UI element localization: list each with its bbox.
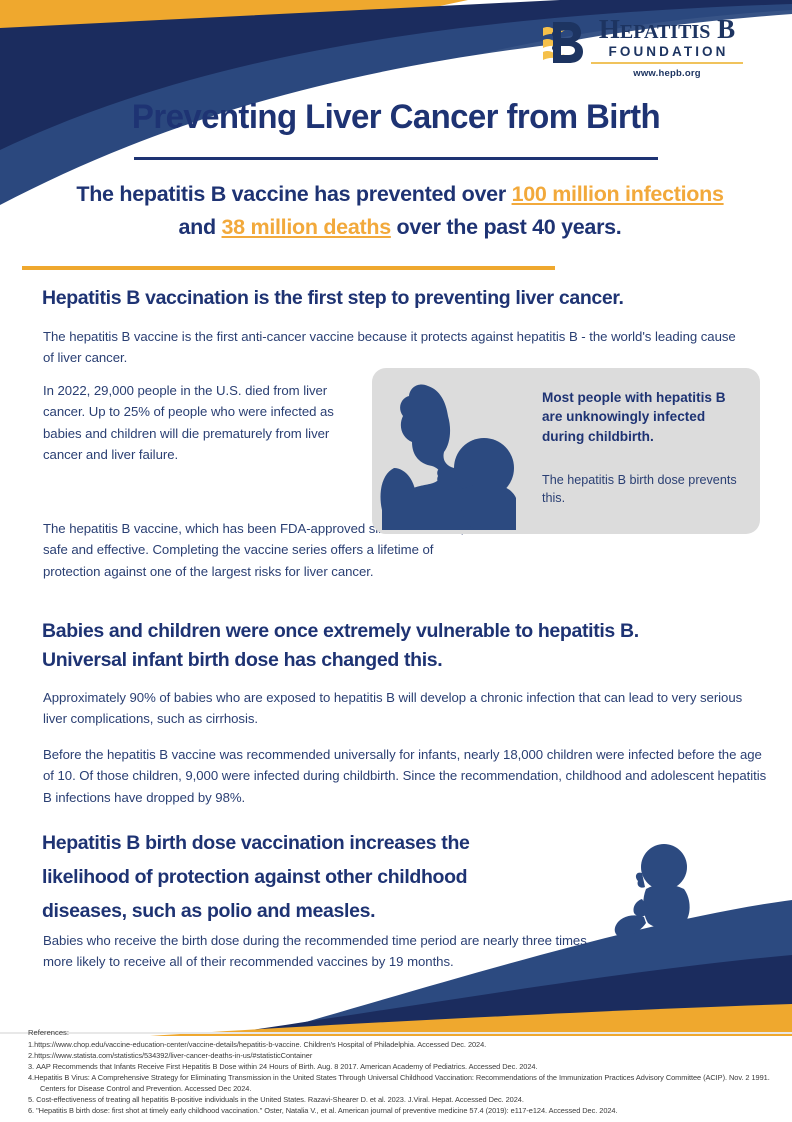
- section-3-heading-line2: likelihood of protection against other c…: [42, 862, 642, 892]
- reference-item: 6. "Hepatitis B birth dose: first shot a…: [28, 1105, 773, 1116]
- callout-title: Most people with hepatitis B are unknowi…: [542, 388, 742, 446]
- section-1-heading: Hepatitis B vaccination is the first ste…: [42, 283, 762, 313]
- callout-card: Most people with hepatitis B are unknowi…: [372, 368, 760, 534]
- references-block: References: 1.https://www.chop.edu/vacci…: [28, 1028, 773, 1116]
- hepb-foundation-logo: HEPATITIS B FOUNDATION www.hepb.org: [539, 16, 754, 84]
- logo-underline: [591, 62, 743, 64]
- logo-url: www.hepb.org: [633, 68, 701, 79]
- logo-subtitle: FOUNDATION: [606, 43, 729, 61]
- banner-text-part3: over the past 40 years.: [391, 215, 622, 239]
- section-2-heading-line1: Babies and children were once extremely …: [42, 616, 772, 646]
- banner-highlight-infections: 100 million infections: [512, 182, 724, 206]
- section-2-paragraph-2: Before the hepatitis B vaccine was recom…: [43, 744, 773, 808]
- references-label: References:: [28, 1028, 773, 1037]
- callout-subtitle: The hepatitis B birth dose prevents this…: [542, 472, 742, 508]
- sitting-baby-silhouette-icon: [608, 843, 708, 948]
- reference-text: https://www.statista.com/statistics/5343…: [34, 1051, 312, 1060]
- title-underline-rule: [134, 157, 658, 160]
- page-title: Preventing Liver Cancer from Birth: [12, 98, 780, 137]
- reference-item: 3. AAP Recommends that Infants Receive F…: [28, 1061, 773, 1072]
- reference-text: "Hepatitis B birth dose: first shot at t…: [36, 1106, 617, 1115]
- section-1-paragraph-2: In 2022, 29,000 people in the U.S. died …: [43, 380, 348, 466]
- section-3-heading-line1: Hepatitis B birth dose vaccination incre…: [42, 828, 642, 858]
- logo-wordmark: HEPATITIS B: [599, 16, 735, 43]
- section-1-paragraph-1: The hepatitis B vaccine is the first ant…: [43, 326, 747, 369]
- reference-item: 2.https://www.statista.com/statistics/53…: [28, 1050, 773, 1061]
- section-3-heading-line3: diseases, such as polio and measles.: [42, 896, 642, 926]
- gold-section-divider: [22, 266, 555, 270]
- reference-text: Cost-effectiveness of treating all hepat…: [36, 1095, 524, 1104]
- section-2-paragraph-1: Approximately 90% of babies who are expo…: [43, 687, 758, 730]
- section-3-paragraph-1: Babies who receive the birth dose during…: [43, 930, 593, 973]
- key-statistic-banner: The hepatitis B vaccine has prevented ov…: [70, 178, 730, 243]
- reference-text: Hepatitis B Virus: A Comprehensive Strat…: [34, 1073, 770, 1093]
- reference-text: AAP Recommends that Infants Receive Firs…: [36, 1062, 537, 1071]
- reference-text: https://www.chop.edu/vaccine-education-c…: [34, 1040, 486, 1049]
- banner-text-part1: The hepatitis B vaccine has prevented ov…: [76, 182, 511, 206]
- mother-and-baby-silhouette-icon: [376, 372, 536, 532]
- banner-text-part2: and: [179, 215, 222, 239]
- section-2-heading-line2: Universal infant birth dose has changed …: [42, 645, 772, 675]
- reference-item: 1.https://www.chop.edu/vaccine-education…: [28, 1039, 773, 1050]
- caduceus-b-logo-icon: [539, 18, 587, 66]
- reference-item: 5. Cost-effectiveness of treating all he…: [28, 1094, 773, 1105]
- banner-highlight-deaths: 38 million deaths: [222, 215, 391, 239]
- reference-item: 4.Hepatitis B Virus: A Comprehensive Str…: [28, 1072, 773, 1094]
- infographic-page: HEPATITIS B FOUNDATION www.hepb.org Prev…: [0, 0, 792, 1122]
